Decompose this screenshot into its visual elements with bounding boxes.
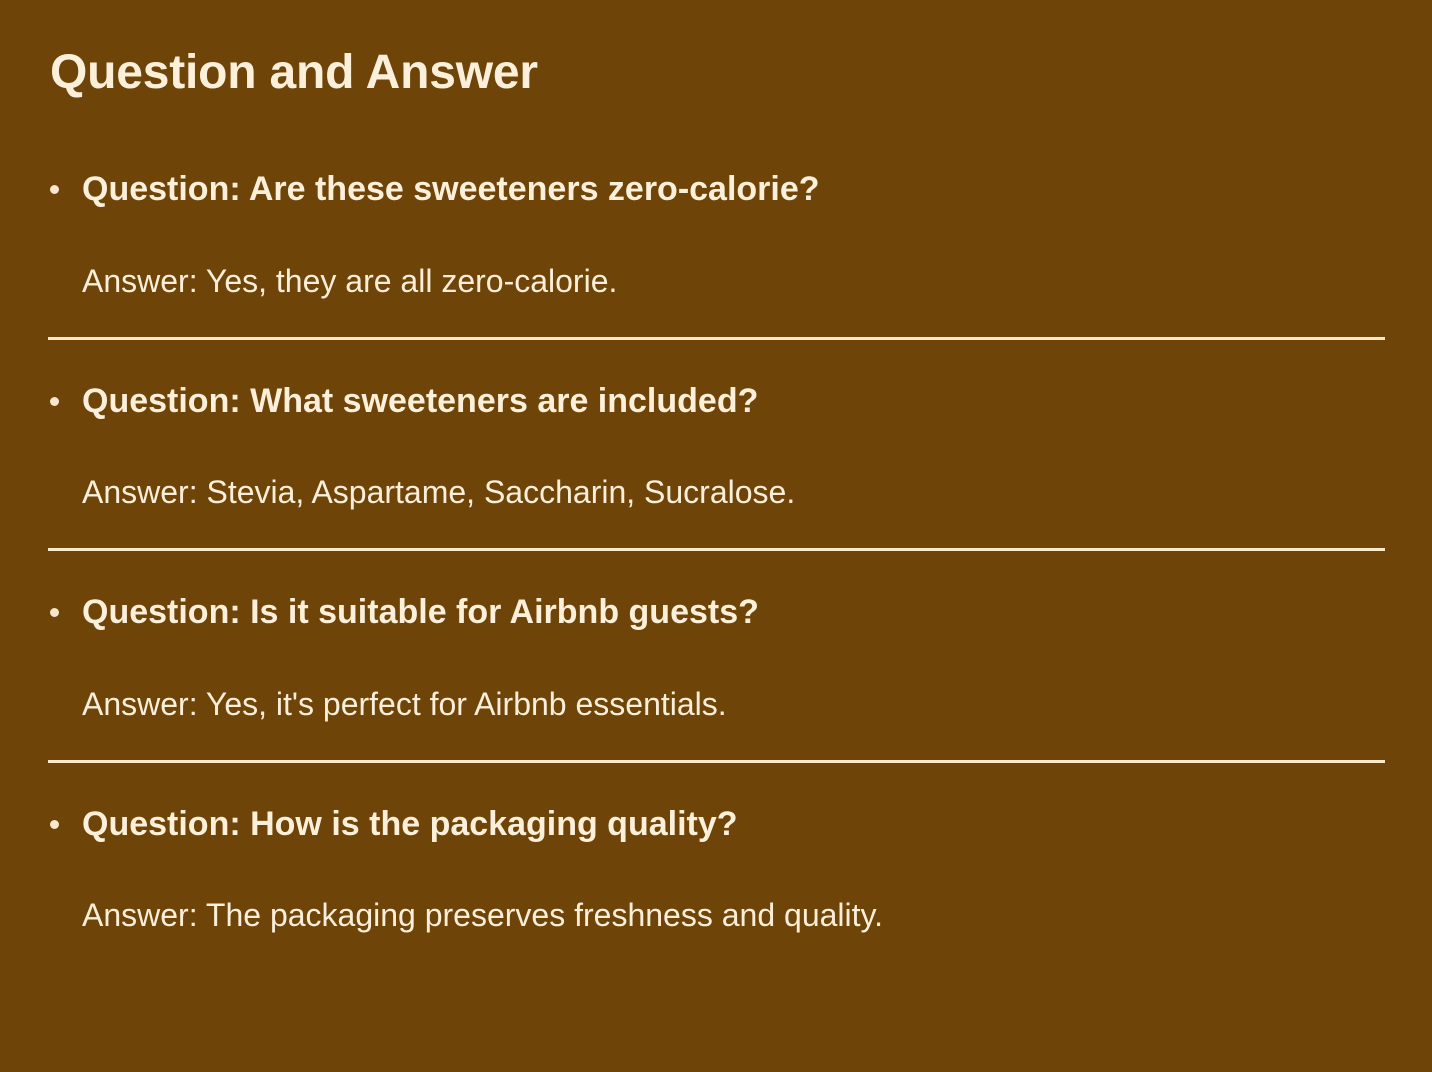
qa-question-text: Question: Are these sweeteners zero-calo…	[82, 170, 820, 208]
qa-question: Question: Are these sweeteners zero-calo…	[0, 168, 1432, 211]
qa-answer-text: Answer: Yes, they are all zero-calorie.	[0, 261, 1432, 301]
qa-answer-text: Answer: Stevia, Aspartame, Saccharin, Su…	[0, 472, 1432, 512]
qa-item: Question: Is it suitable for Airbnb gues…	[0, 591, 1432, 803]
bullet-dot-icon	[50, 820, 59, 829]
qa-page: Question and Answer Question: Are these …	[0, 0, 1432, 1072]
bullet-dot-icon	[50, 608, 59, 617]
qa-question-text: Question: What sweeteners are included?	[82, 382, 758, 420]
qa-answer-text: Answer: The packaging preserves freshnes…	[0, 895, 1432, 935]
qa-list: Question: Are these sweeteners zero-calo…	[0, 168, 1432, 935]
qa-spacer	[0, 763, 1432, 803]
qa-question: Question: What sweeteners are included?	[0, 380, 1432, 423]
qa-question-text: Question: How is the packaging quality?	[82, 805, 738, 843]
qa-spacer	[0, 551, 1432, 591]
qa-question: Question: Is it suitable for Airbnb gues…	[0, 591, 1432, 634]
bullet-dot-icon	[50, 185, 59, 194]
qa-question: Question: How is the packaging quality?	[0, 803, 1432, 846]
qa-spacer	[0, 340, 1432, 380]
qa-item: Question: How is the packaging quality? …	[0, 803, 1432, 936]
page-title: Question and Answer	[50, 45, 538, 100]
qa-question-text: Question: Is it suitable for Airbnb gues…	[82, 593, 759, 631]
qa-item: Question: Are these sweeteners zero-calo…	[0, 168, 1432, 380]
bullet-dot-icon	[50, 397, 59, 406]
qa-item: Question: What sweeteners are included? …	[0, 380, 1432, 592]
qa-answer-text: Answer: Yes, it's perfect for Airbnb ess…	[0, 684, 1432, 724]
